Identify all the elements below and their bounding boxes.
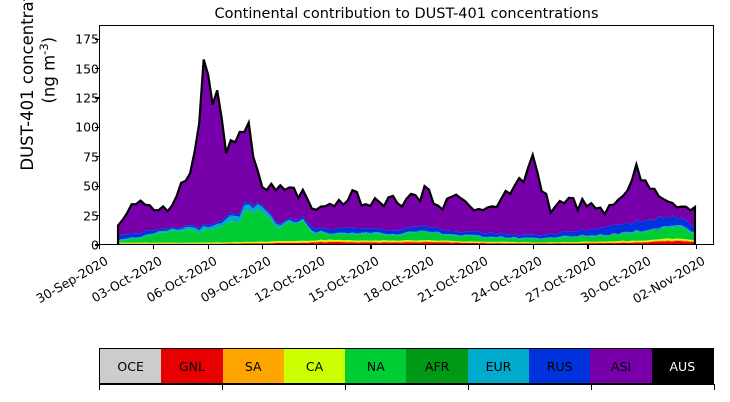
x-tick-mark — [533, 245, 534, 249]
x-tick-mark — [99, 245, 100, 249]
legend-item-eur[interactable]: EUR — [468, 349, 529, 383]
y-tick-label: 125 — [59, 90, 99, 105]
x-tick-mark — [479, 245, 480, 249]
legend-item-ca[interactable]: CA — [284, 349, 345, 383]
legend-item-label: GNL — [179, 359, 205, 374]
x-tick-mark — [425, 245, 426, 249]
legend-item-label: AUS — [670, 359, 696, 374]
y-tick-label: 150 — [59, 61, 99, 76]
area-series-asi — [118, 59, 695, 236]
legend-item-na[interactable]: NA — [345, 349, 406, 383]
x-tick-mark — [153, 245, 154, 249]
legend-axis-line — [99, 384, 714, 385]
chart-figure: Continental contribution to DUST-401 con… — [0, 0, 730, 402]
legend-item-gnl[interactable]: GNL — [161, 349, 222, 383]
legend-axis — [99, 384, 714, 402]
y-tick-label: 175 — [59, 32, 99, 47]
legend-item-aus[interactable]: AUS — [652, 349, 713, 383]
legend-item-label: AFR — [425, 359, 449, 374]
legend-colorbar: OCEGNLSACANAAFREURRUSASIAUS — [99, 348, 714, 384]
legend-item-afr[interactable]: AFR — [406, 349, 467, 383]
x-tick-mark — [262, 245, 263, 249]
y-tick-label: 25 — [59, 208, 99, 223]
legend-item-asi[interactable]: ASI — [590, 349, 651, 383]
y-tick-label: 50 — [59, 179, 99, 194]
legend-tick-mark — [714, 384, 715, 390]
legend-item-label: RUS — [547, 359, 573, 374]
x-tick-mark — [208, 245, 209, 249]
legend-item-label: EUR — [486, 359, 512, 374]
x-tick-mark — [587, 245, 588, 249]
legend-item-label: ASI — [611, 359, 631, 374]
legend-item-label: CA — [306, 359, 323, 374]
x-tick-mark — [642, 245, 643, 249]
x-tick-mark — [370, 245, 371, 249]
y-axis-label-text: DUST-401 concentration — [18, 0, 37, 171]
chart-title: Continental contribution to DUST-401 con… — [99, 6, 714, 22]
legend-item-label: SA — [245, 359, 262, 374]
stacked-area-plot — [100, 26, 713, 244]
y-tick-label: 100 — [59, 120, 99, 135]
y-axis-ticks: 0255075100125150175 — [51, 25, 99, 245]
y-tick-label: 0 — [59, 238, 99, 253]
legend-item-label: OCE — [117, 359, 143, 374]
plot-area — [99, 25, 714, 245]
y-tick-label: 75 — [59, 149, 99, 164]
legend-item-oce[interactable]: OCE — [100, 349, 161, 383]
x-axis-ticks: 30-Sep-202003-Oct-202006-Oct-202009-Oct-… — [99, 245, 714, 335]
legend-item-label: NA — [367, 359, 385, 374]
legend-item-sa[interactable]: SA — [223, 349, 284, 383]
legend-item-rus[interactable]: RUS — [529, 349, 590, 383]
x-tick-mark — [696, 245, 697, 249]
x-tick-mark — [316, 245, 317, 249]
y-axis-units-exponent: -3 — [37, 43, 51, 54]
